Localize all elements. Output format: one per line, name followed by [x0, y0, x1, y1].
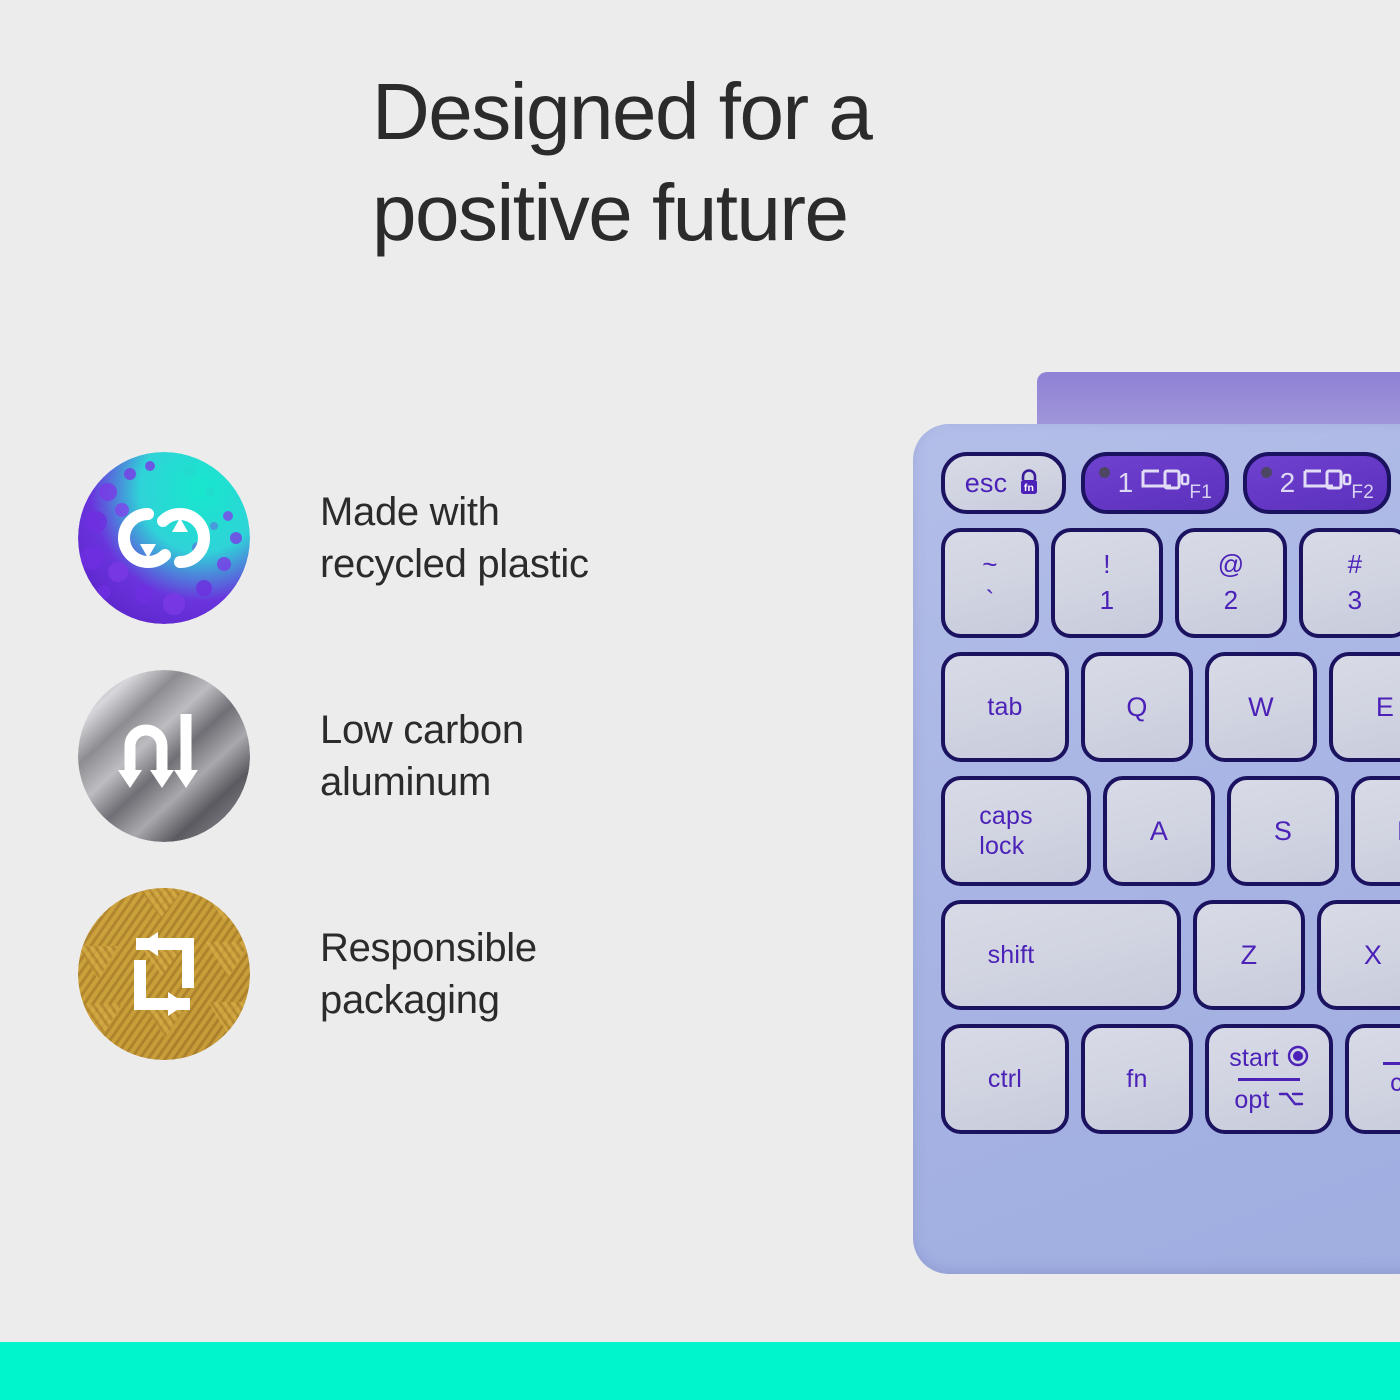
key-1[interactable]: ! 1 — [1051, 528, 1163, 638]
page-title: Designed for a positive future — [372, 62, 1072, 264]
key-caps-lock-line1: caps — [979, 801, 1033, 832]
key-cmd-label: cmd — [1390, 1068, 1400, 1099]
key-fn[interactable]: fn — [1081, 1024, 1193, 1134]
key-shift-label: shift — [988, 941, 1035, 970]
key-x[interactable]: X — [1317, 900, 1400, 1010]
key-3-base: 3 — [1348, 585, 1363, 617]
key-q-label: Q — [1126, 692, 1147, 723]
bottom-accent-bar — [0, 1342, 1400, 1400]
key-2-base: 2 — [1224, 585, 1239, 617]
key-legend-divider — [1238, 1078, 1300, 1081]
key-d[interactable]: D — [1351, 776, 1400, 886]
key-2-shift: @ — [1218, 549, 1245, 581]
key-caps-lock[interactable]: caps lock — [941, 776, 1091, 886]
key-f1-fkey-label: F1 — [1189, 482, 1212, 504]
key-ctrl-label: ctrl — [988, 1065, 1022, 1094]
feature-list: Made with recycled plastic — [78, 452, 718, 1060]
key-esc-label: esc — [965, 468, 1008, 499]
feature-label: Low carbon aluminum — [320, 704, 524, 808]
key-ctrl[interactable]: ctrl — [941, 1024, 1069, 1134]
key-z[interactable]: Z — [1193, 900, 1305, 1010]
key-legend-divider — [1383, 1062, 1400, 1065]
key-e-label: E — [1376, 692, 1394, 723]
key-caps-lock-line2: lock — [979, 831, 1024, 862]
svg-text:fn: fn — [1024, 482, 1034, 494]
key-f2-fkey-label: F2 — [1351, 482, 1374, 504]
key-start-opt[interactable]: start opt — [1205, 1024, 1333, 1134]
key-cmd[interactable]: cmd — [1345, 1024, 1400, 1134]
key-start-label: start — [1229, 1043, 1279, 1074]
keyboard-illustration: esc fn 1 — [905, 372, 1400, 1282]
key-f1[interactable]: 1 F1 — [1081, 452, 1229, 514]
key-q[interactable]: Q — [1081, 652, 1193, 762]
key-1-base: 1 — [1100, 585, 1115, 617]
key-opt-label: opt — [1234, 1085, 1269, 1116]
key-a[interactable]: A — [1103, 776, 1215, 886]
key-fn-label: fn — [1126, 1065, 1147, 1094]
key-tab[interactable]: tab — [941, 652, 1069, 762]
low-carbon-aluminum-icon — [78, 670, 250, 842]
key-x-label: X — [1364, 940, 1382, 971]
key-f2[interactable]: 2 F2 — [1243, 452, 1391, 514]
key-tab-label: tab — [987, 693, 1022, 722]
key-s[interactable]: S — [1227, 776, 1339, 886]
key-a-label: A — [1150, 816, 1168, 847]
key-backtick[interactable]: ~ ` — [941, 528, 1039, 638]
key-s-label: S — [1274, 816, 1292, 847]
key-esc[interactable]: esc fn — [941, 452, 1066, 514]
keyboard-body: esc fn 1 — [913, 424, 1400, 1274]
option-icon — [1278, 1084, 1304, 1117]
feature-label: Responsible packaging — [320, 922, 537, 1026]
key-shift[interactable]: shift — [941, 900, 1181, 1010]
feature-item-responsible-packaging: Responsible packaging — [78, 888, 718, 1060]
key-3[interactable]: # 3 — [1299, 528, 1400, 638]
device-switch-icon — [1140, 465, 1192, 502]
windows-start-icon — [1287, 1042, 1309, 1075]
key-w-label: W — [1248, 692, 1274, 723]
fn-lock-icon: fn — [1016, 468, 1042, 498]
key-f1-number: 1 — [1118, 467, 1134, 499]
key-w[interactable]: W — [1205, 652, 1317, 762]
key-backtick-shift: ~ — [982, 549, 997, 581]
key-1-shift: ! — [1103, 549, 1110, 581]
key-z-label: Z — [1241, 940, 1258, 971]
feature-item-low-carbon-aluminum: Low carbon aluminum — [78, 670, 718, 842]
key-backtick-base: ` — [986, 585, 995, 617]
device-switch-icon — [1302, 465, 1354, 502]
key-f2-number: 2 — [1280, 467, 1296, 499]
responsible-packaging-icon — [78, 888, 250, 1060]
key-e[interactable]: E — [1329, 652, 1400, 762]
feature-item-recycled-plastic: Made with recycled plastic — [78, 452, 718, 624]
key-2[interactable]: @ 2 — [1175, 528, 1287, 638]
key-3-shift: # — [1348, 549, 1363, 581]
recycled-plastic-icon — [78, 452, 250, 624]
feature-label: Made with recycled plastic — [320, 486, 589, 590]
